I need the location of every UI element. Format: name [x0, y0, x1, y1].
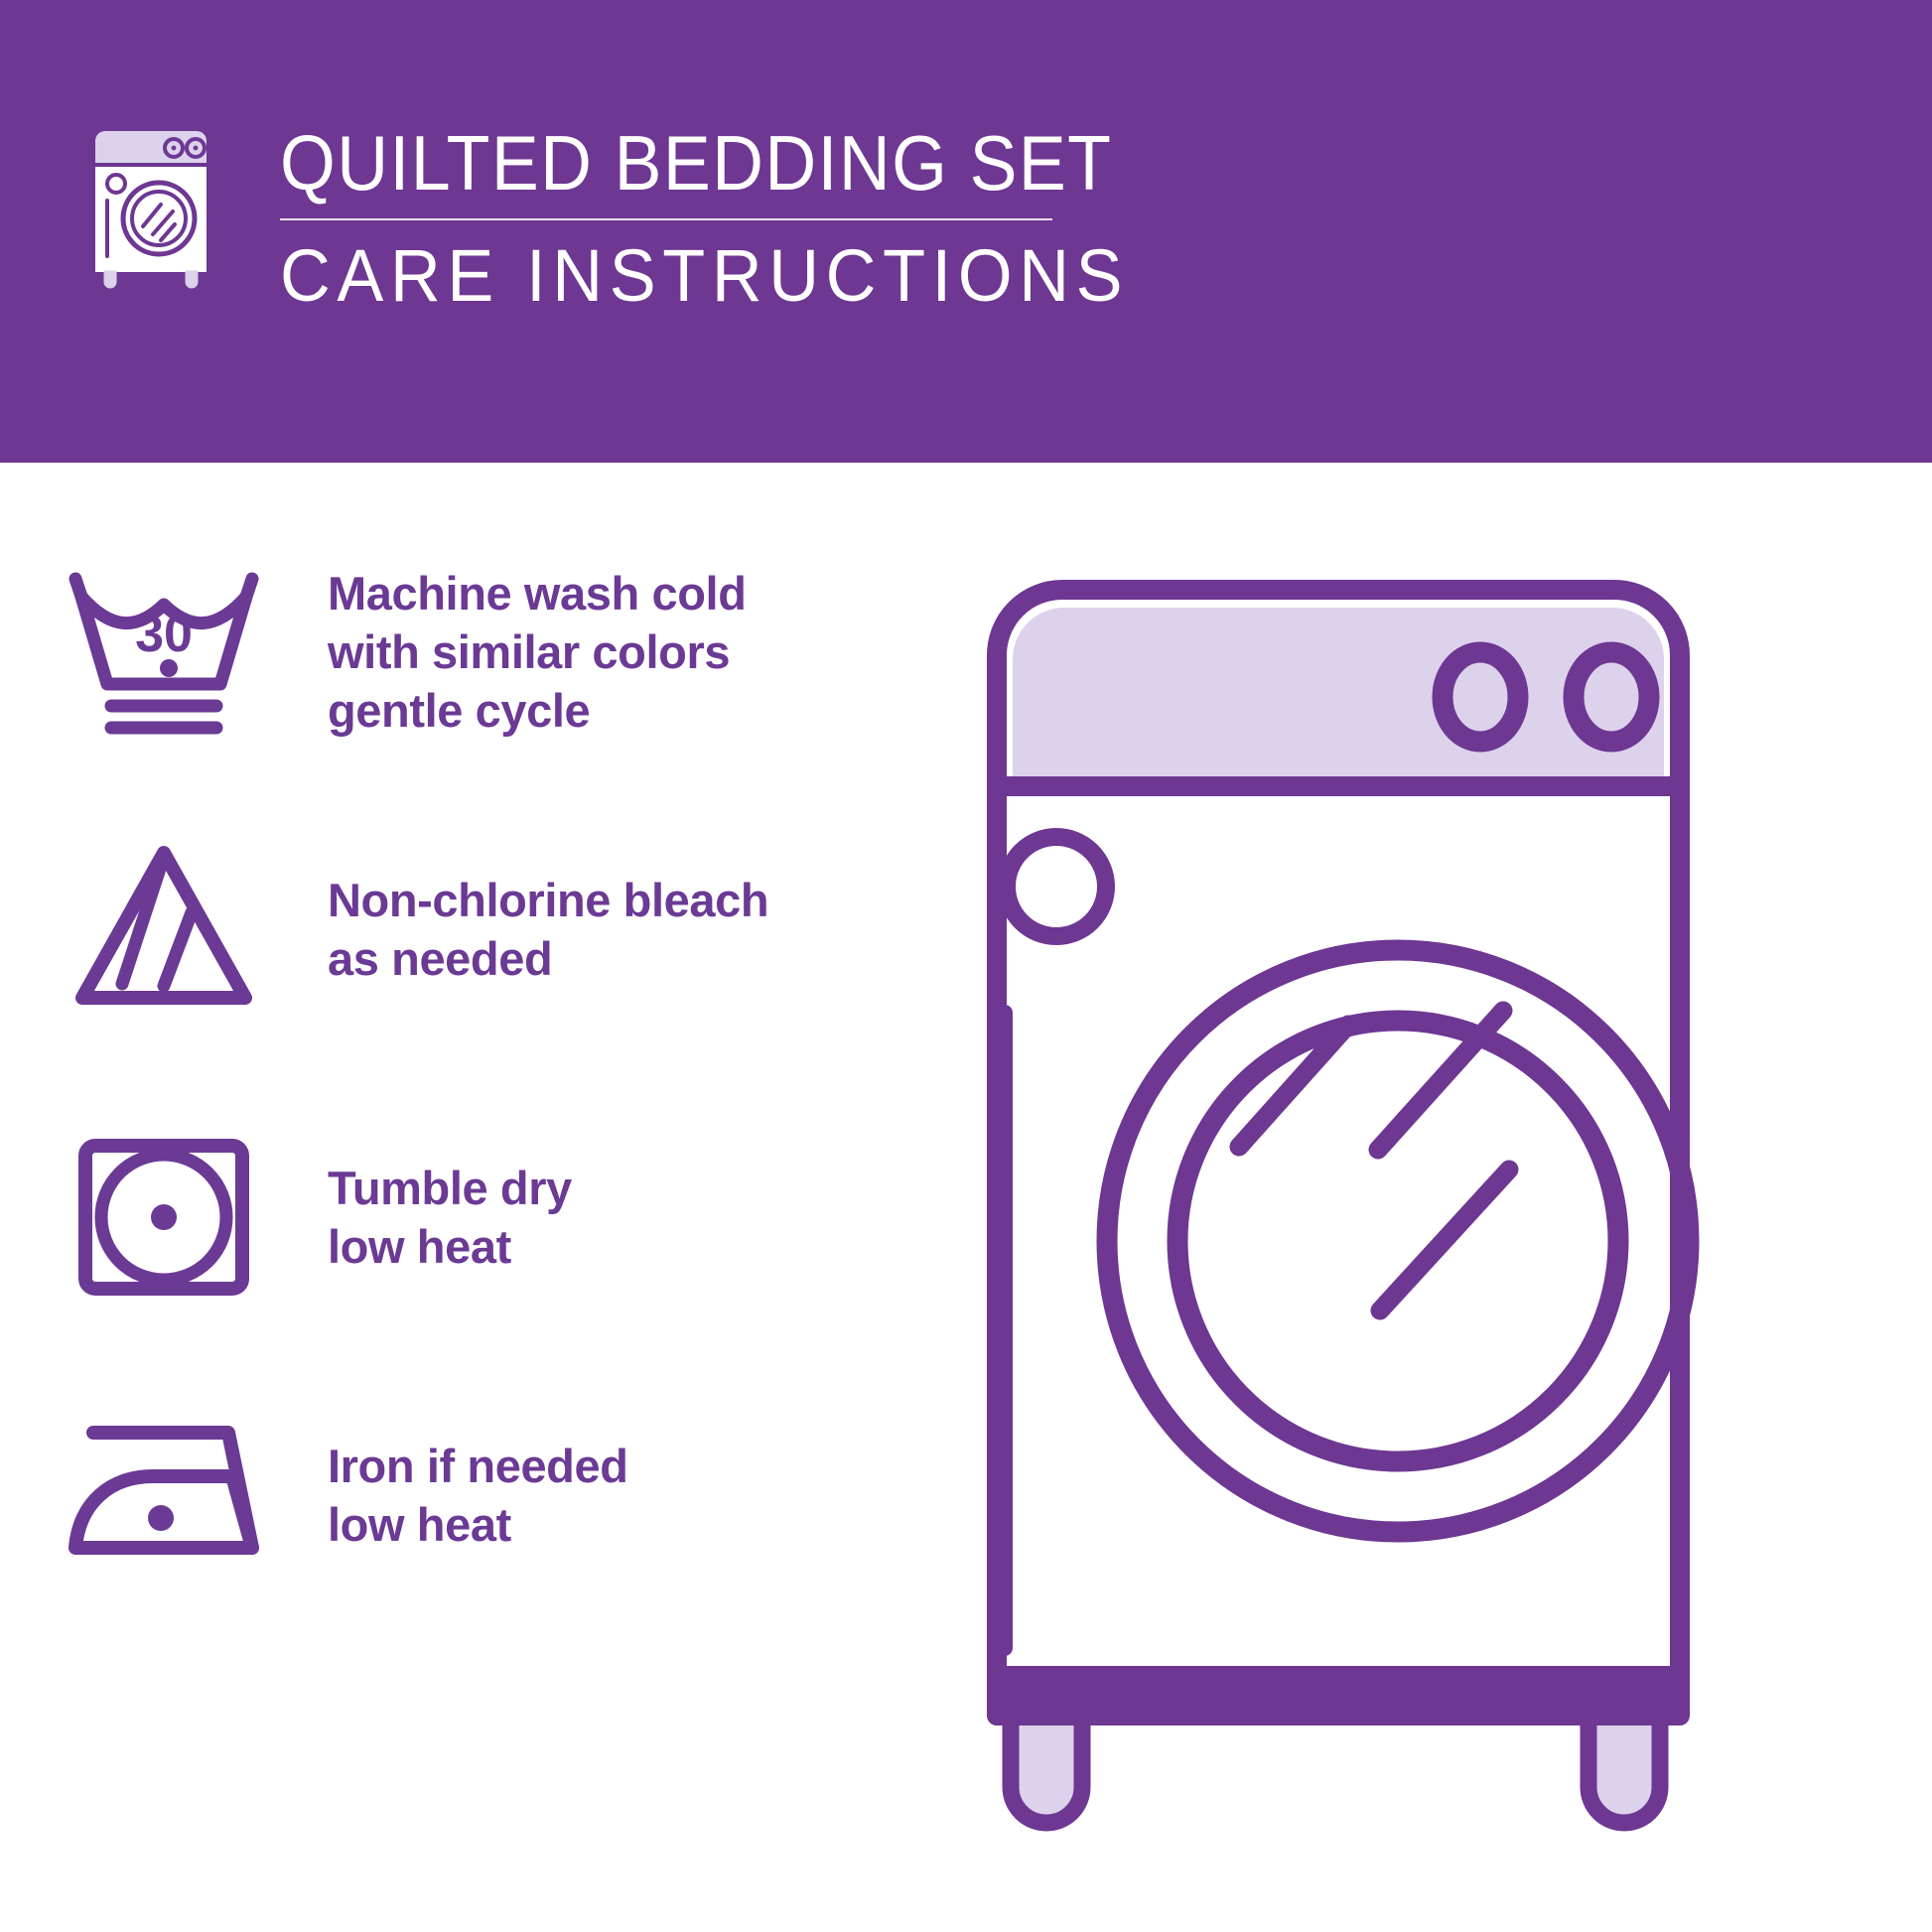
triangle-non-chlorine-bleach-icon [0, 835, 328, 1024]
care-line: gentle cycle [328, 681, 953, 740]
knob-left [1443, 652, 1518, 742]
knob-right [1574, 652, 1649, 742]
care-line: as needed [328, 929, 953, 988]
page-subtitle: CARE INSTRUCTIONS [280, 236, 1035, 316]
care-instructions-infographic: QUILTED BEDDING SET CARE INSTRUCTIONS 30 [0, 0, 1932, 1932]
care-text-bleach: Non-chlorine bleach as needed [328, 871, 953, 988]
header-band: QUILTED BEDDING SET CARE INSTRUCTIONS [0, 0, 1932, 463]
care-row-wash: 30 Machine wash cold with similar colors… [0, 532, 953, 770]
title-divider [280, 218, 1052, 220]
care-instruction-list: 30 Machine wash cold with similar colors… [0, 463, 953, 1932]
care-line: Iron if needed [328, 1437, 953, 1495]
care-line: Non-chlorine bleach [328, 871, 953, 929]
iron-low-heat-icon [0, 1411, 328, 1580]
care-line: low heat [328, 1217, 953, 1276]
care-row-bleach: Non-chlorine bleach as needed [0, 810, 953, 1048]
care-line: Tumble dry [328, 1159, 953, 1217]
care-text-tumble-dry: Tumble dry low heat [328, 1159, 953, 1276]
care-text-iron: Iron if needed low heat [328, 1437, 953, 1554]
front-load-washing-machine-illustration [953, 556, 1932, 1932]
care-line: low heat [328, 1495, 953, 1554]
wash-tub-30-gentle-icon: 30 [0, 557, 328, 746]
washing-machine-icon [77, 127, 224, 286]
care-row-tumble-dry: Tumble dry low heat [0, 1098, 953, 1336]
care-row-iron: Iron if needed low heat [0, 1376, 953, 1614]
care-line: Machine wash cold [328, 564, 953, 622]
care-text-wash: Machine wash cold with similar colors ge… [328, 564, 953, 740]
tumble-dry-low-heat-icon [0, 1128, 328, 1307]
care-line: with similar colors [328, 622, 953, 681]
wash-temperature-label: 30 [135, 606, 193, 663]
header-text-block: QUILTED BEDDING SET CARE INSTRUCTIONS [280, 121, 1074, 316]
page-title: QUILTED BEDDING SET [280, 121, 1011, 205]
